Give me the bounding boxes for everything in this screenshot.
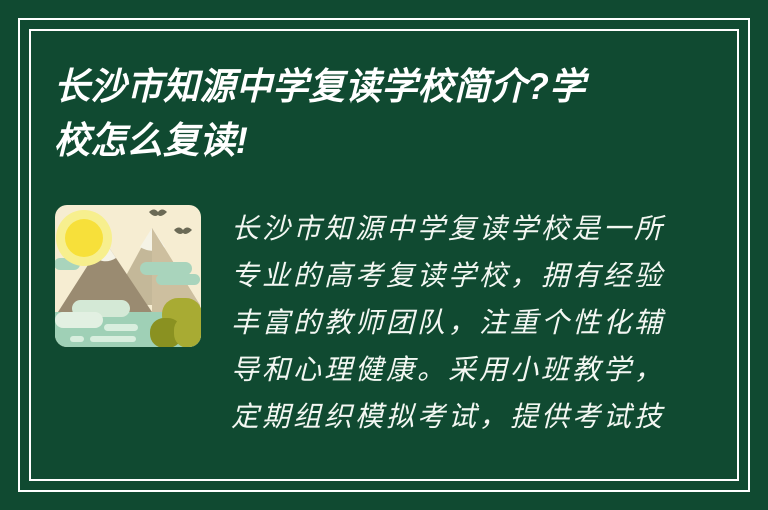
poster-canvas: 长沙市知源中学复读学校简介?学 校怎么复读!	[0, 0, 768, 510]
title-line-2: 校怎么复读!	[54, 114, 675, 168]
body-copy: 长沙市知源中学复读学校是一所 专业的高考复读学校，拥有经验 丰富的教师团队，注重…	[231, 206, 671, 441]
body-line-5: 定期组织模拟考试，提供考试技	[231, 394, 671, 441]
body-line-4: 导和心理健康。采用小班教学，	[231, 347, 671, 394]
body-line-1: 长沙市知源中学复读学校是一所	[231, 206, 671, 253]
page-title: 长沙市知源中学复读学校简介?学 校怎么复读!	[54, 60, 694, 168]
body-line-3: 丰富的教师团队，注重个性化辅	[231, 300, 671, 347]
body-line-2: 专业的高考复读学校，拥有经验	[231, 253, 671, 300]
illustration-card	[52, 200, 207, 352]
mountain-landscape-icon	[52, 200, 207, 352]
title-line-1: 长沙市知源中学复读学校简介?学	[54, 60, 675, 114]
